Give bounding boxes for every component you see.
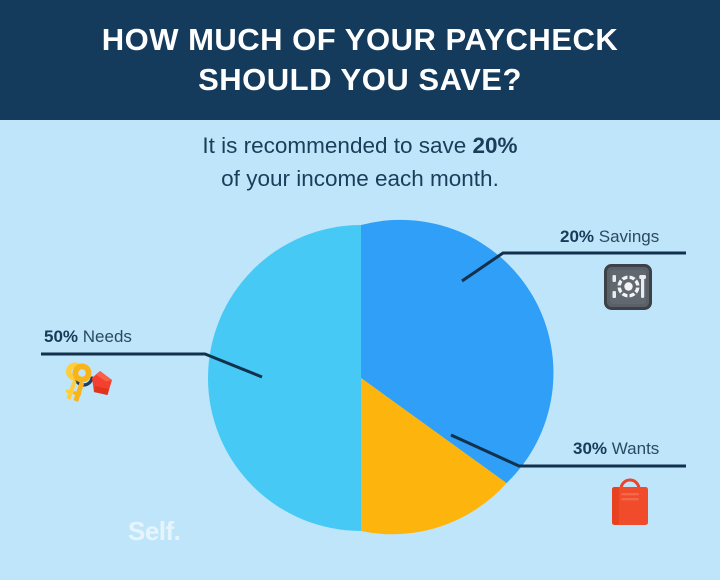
leader-line-savings <box>462 253 686 281</box>
callout-label-wants: 30% Wants <box>573 439 659 459</box>
callout-name-needs: Needs <box>78 327 132 346</box>
callout-percent-needs: 50% <box>44 327 78 346</box>
callout-label-needs: 50% Needs <box>44 327 132 347</box>
pie-chart: 20% Savings 50% Needs 30% Wants <box>0 0 720 580</box>
house-fob <box>92 371 112 395</box>
safe-icon <box>604 264 652 315</box>
infographic-root: HOW MUCH OF YOUR PAYCHECK SHOULD YOU SAV… <box>0 0 720 580</box>
callout-name-savings: Savings <box>594 227 659 246</box>
callout-percent-savings: 20% <box>560 227 594 246</box>
callout-name-wants: Wants <box>607 439 659 458</box>
brand-logo: Self. <box>128 516 180 547</box>
callout-percent-wants: 30% <box>573 439 607 458</box>
shopping-bag-icon <box>610 477 650 532</box>
callout-label-savings: 20% Savings <box>560 227 659 247</box>
house-keys-icon <box>54 358 116 411</box>
